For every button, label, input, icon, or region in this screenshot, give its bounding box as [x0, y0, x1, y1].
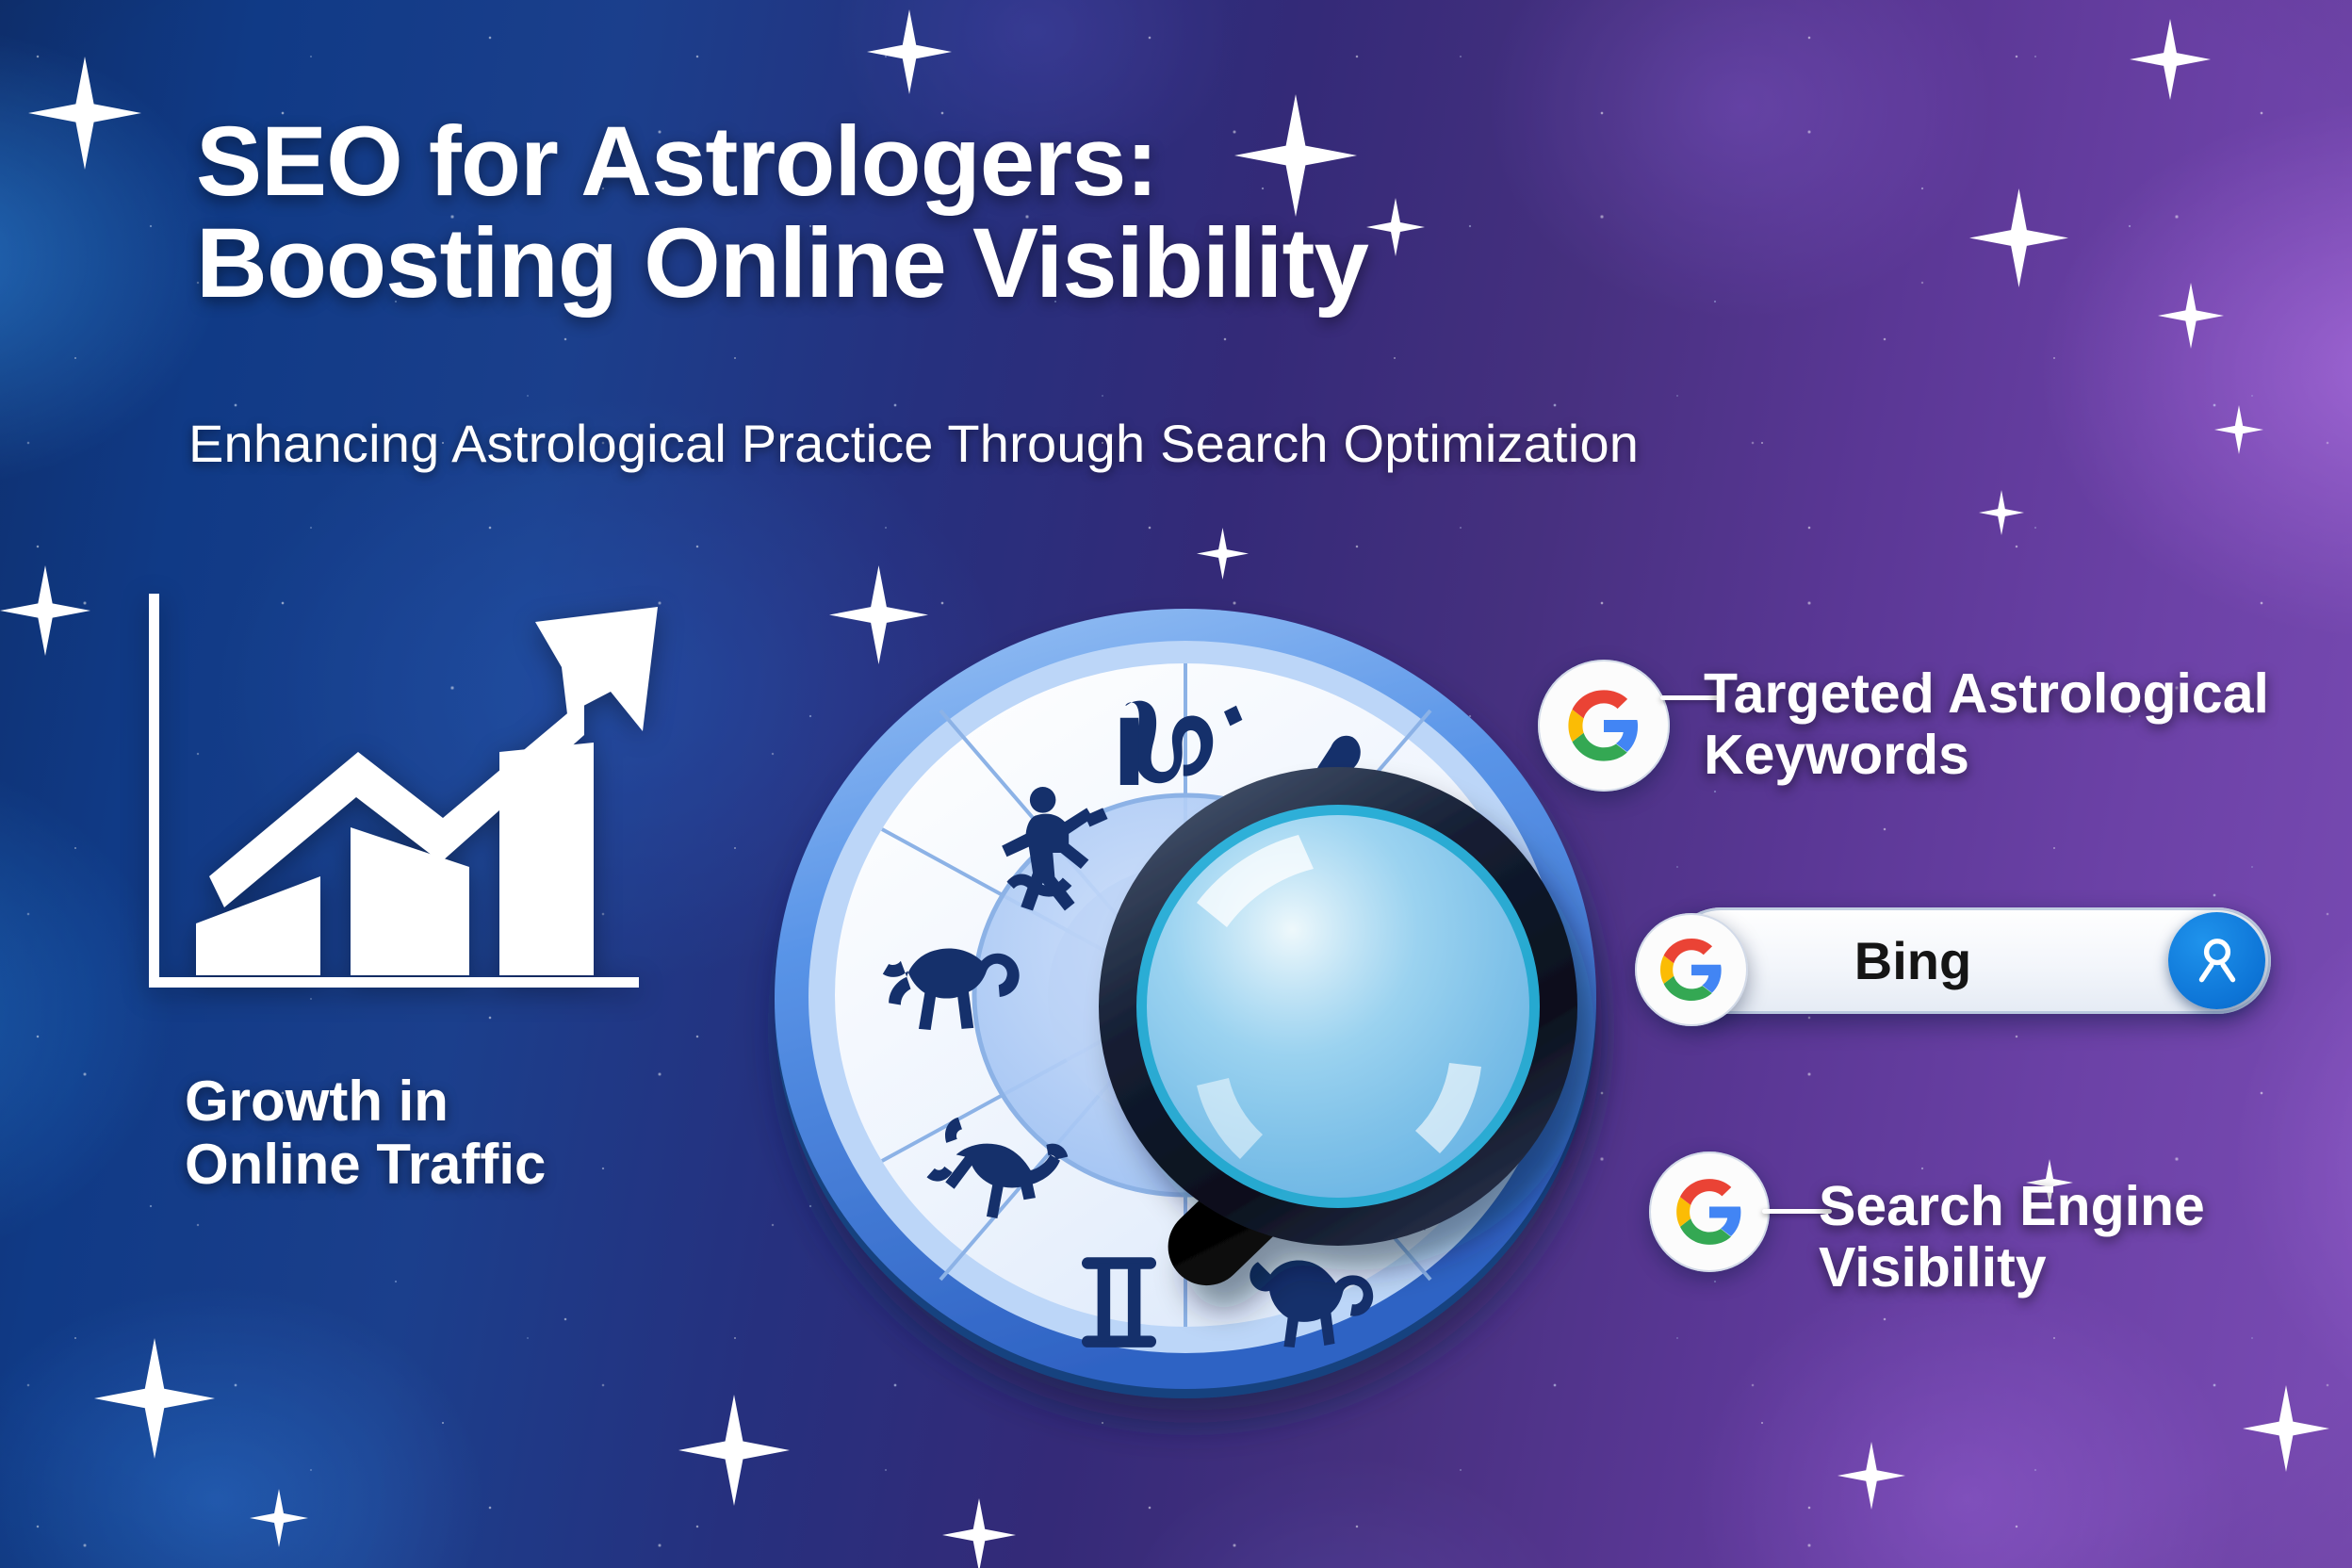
google-g-icon — [1565, 687, 1642, 764]
search-bar[interactable]: Bing — [1668, 907, 2271, 1014]
title-line-2: Boosting Online Visibility — [196, 213, 1986, 315]
callout-targeted-keywords: Targeted Astrological Keywords — [1704, 663, 2352, 786]
callout-keywords-line-1: Targeted Astrological — [1704, 662, 2269, 725]
growth-label-line-1: Growth in — [185, 1070, 449, 1133]
google-badge-keywords[interactable] — [1538, 660, 1670, 792]
google-badge-search[interactable] — [1635, 913, 1748, 1026]
user-account-icon[interactable] — [2168, 912, 2265, 1009]
growth-chart-icon — [141, 594, 726, 1027]
page-subtitle: Enhancing Astrological Practice Through … — [188, 413, 2130, 474]
google-g-icon — [1658, 936, 1725, 1004]
growth-label: Growth in Online Traffic — [185, 1070, 788, 1196]
page-title: SEO for Astrologers: Boosting Online Vis… — [196, 111, 1986, 315]
infographic-banner: SEO for Astrologers: Boosting Online Vis… — [0, 0, 2352, 1568]
callout-visibility-line-2: Visibility — [1819, 1236, 2047, 1298]
google-g-icon — [1674, 1176, 1745, 1248]
callout-search-engine-visibility: Search Engine Visibility — [1819, 1176, 2352, 1298]
callout-keywords-line-2: Keywords — [1704, 724, 1969, 786]
magnifying-glass-icon — [1086, 754, 1670, 1395]
growth-label-line-2: Online Traffic — [185, 1133, 546, 1196]
google-badge-visibility[interactable] — [1649, 1151, 1770, 1272]
callout-visibility-line-1: Search Engine — [1819, 1175, 2205, 1237]
title-line-1: SEO for Astrologers: — [196, 106, 1157, 217]
